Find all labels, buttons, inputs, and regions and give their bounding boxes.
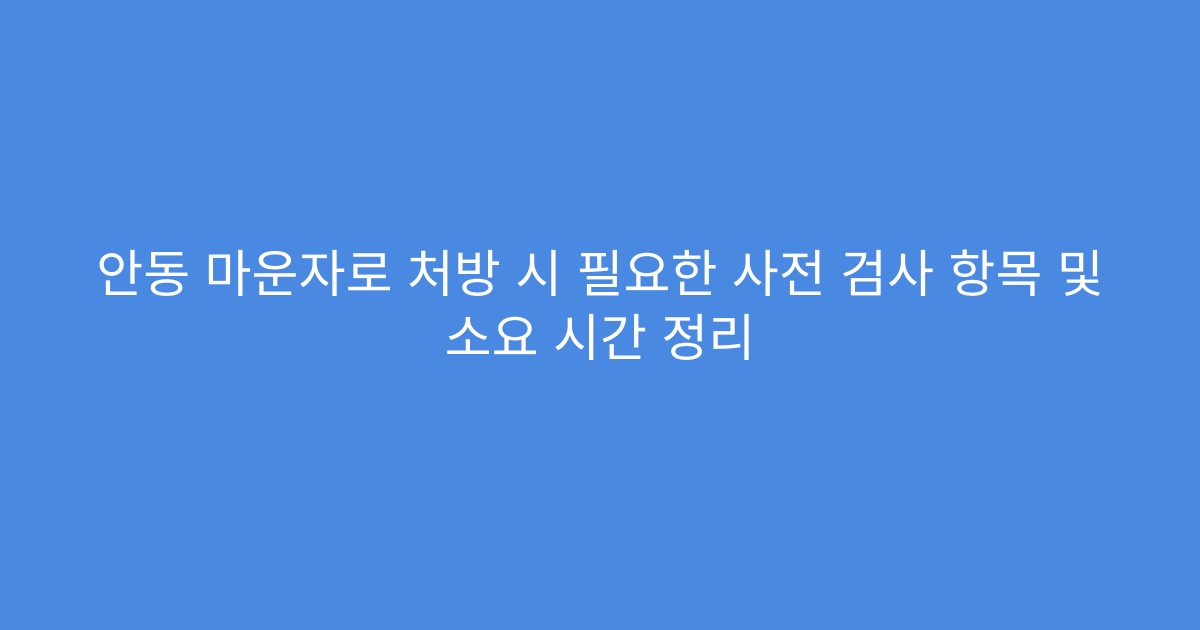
og-card-canvas: 안동 마운자로 처방 시 필요한 사전 검사 항목 및 소요 시간 정리: [0, 0, 1200, 630]
title-block: 안동 마운자로 처방 시 필요한 사전 검사 항목 및 소요 시간 정리: [70, 243, 1130, 371]
page-title: 안동 마운자로 처방 시 필요한 사전 검사 항목 및 소요 시간 정리: [70, 243, 1130, 371]
